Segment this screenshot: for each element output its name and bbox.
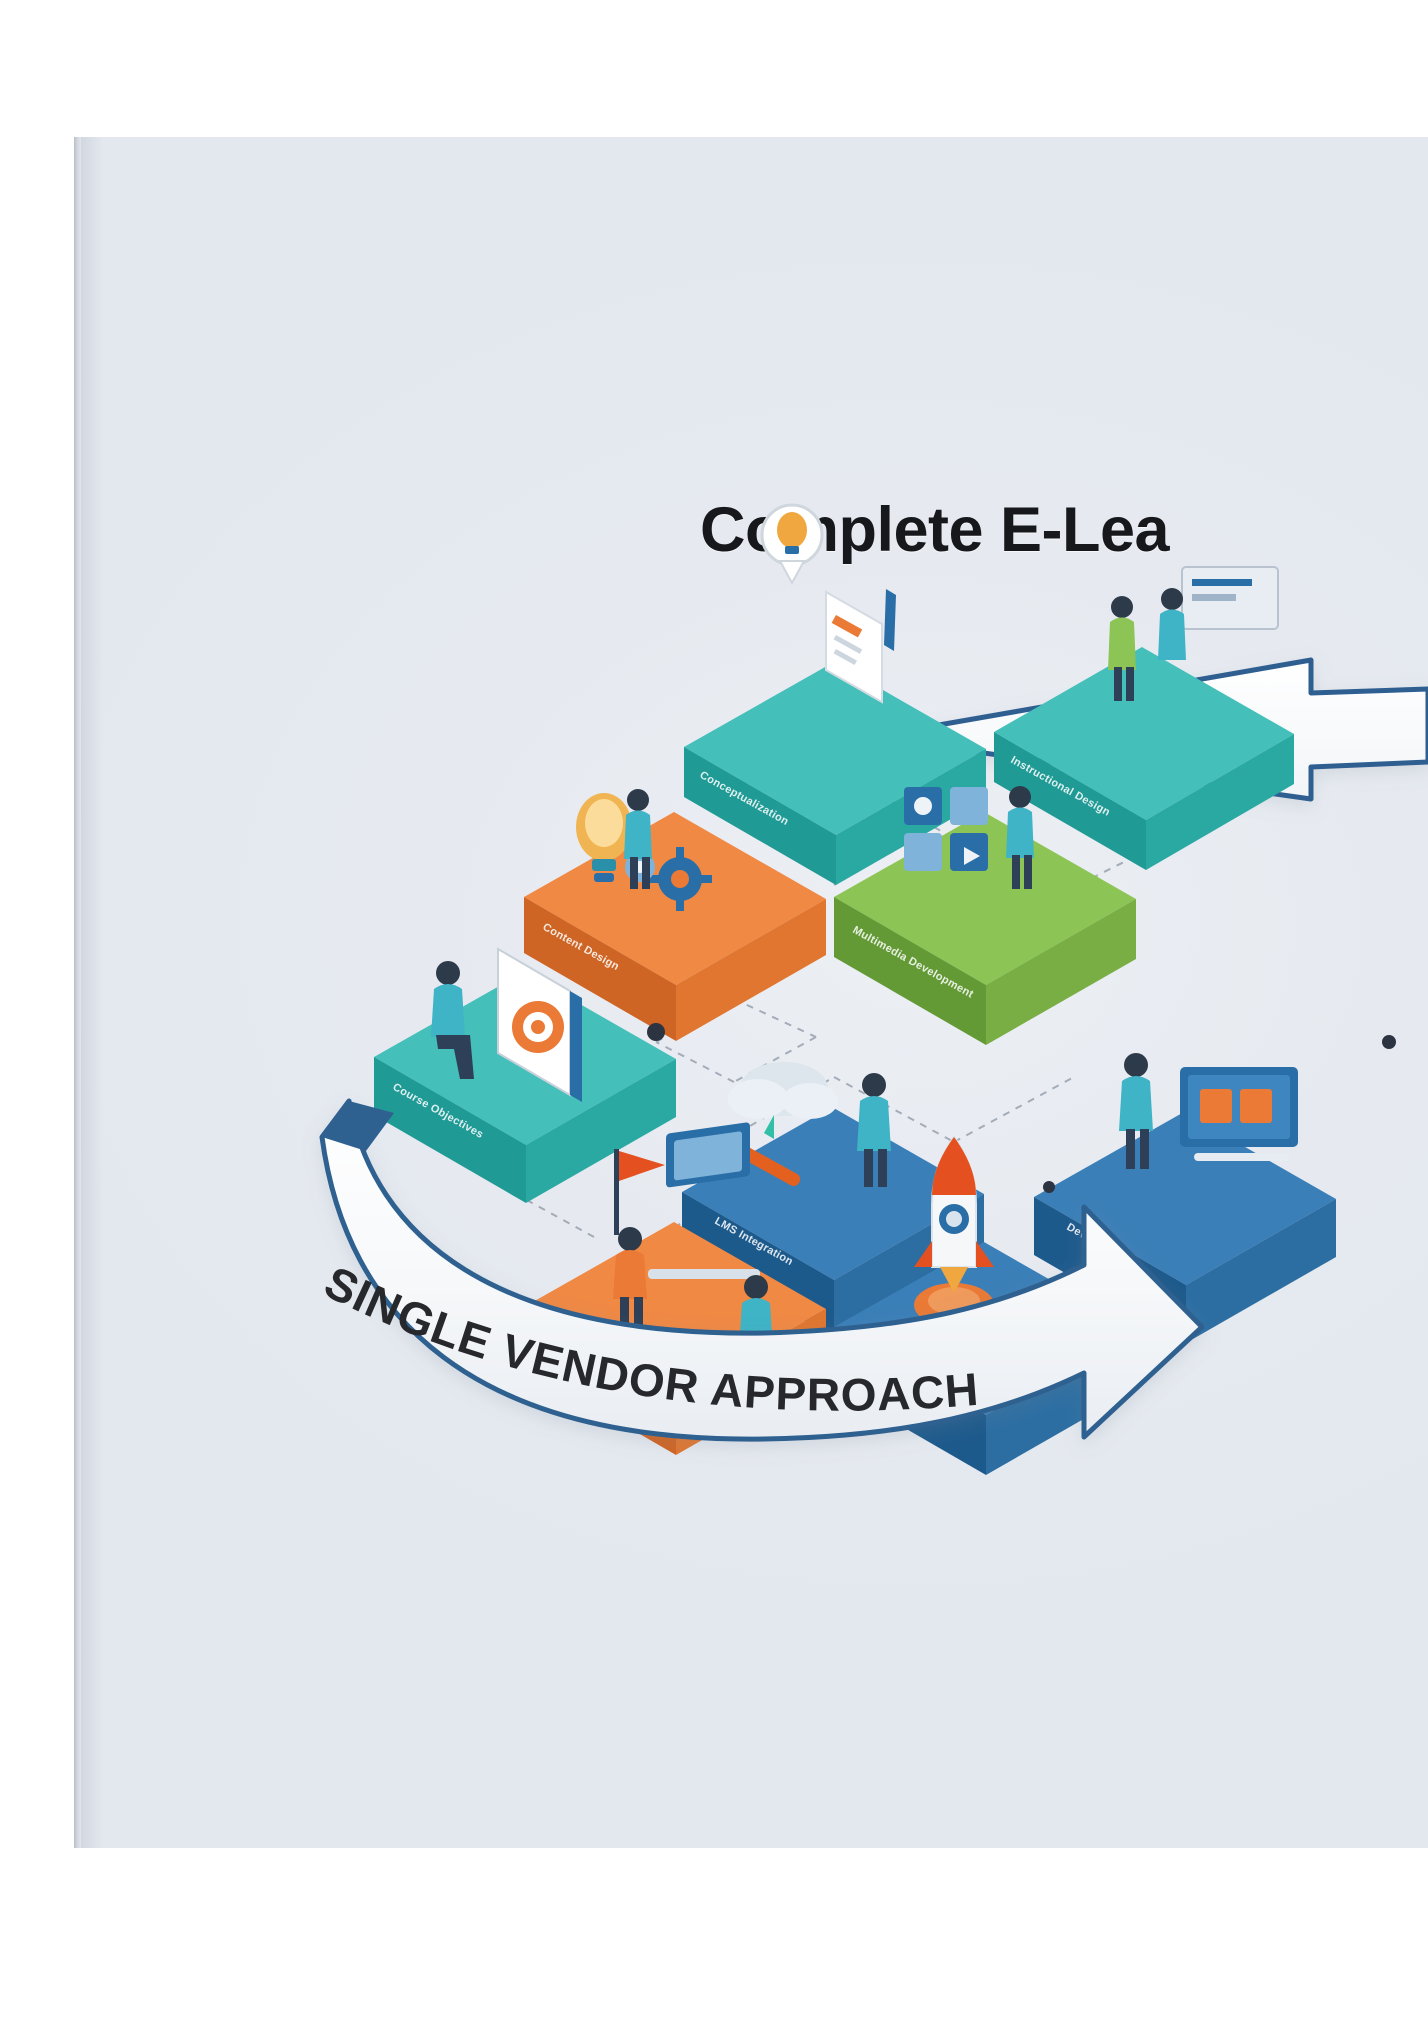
connector-lines <box>494 757 1194 1237</box>
tablet-target-icon <box>431 949 582 1102</box>
tile-instructional-design: Instructional Design <box>994 567 1294 870</box>
slide-canvas: Complete E-Lea <box>74 137 1428 1848</box>
tile-label: Content Design <box>541 921 622 973</box>
page-title: Complete E-Lea <box>700 494 1169 566</box>
media-blocks-icon <box>904 786 1034 889</box>
tile-lms-integration: LMS Integration <box>682 1062 984 1338</box>
connector-node <box>1043 1181 1055 1193</box>
left-pointing-arrow-icon <box>870 660 1428 799</box>
single-vendor-approach-banner: SINGLE VENDOR APPROACH <box>317 1101 1202 1439</box>
tile-deployment: Deployment <box>834 1137 1136 1475</box>
tile-label: Multimedia Development <box>851 924 976 1001</box>
tile-course-objectives: Course Objectives <box>374 949 676 1203</box>
tile-label: LMS Integration <box>713 1215 795 1268</box>
isometric-diagram: Conceptualization <box>74 137 1428 1848</box>
banner-label: SINGLE VENDOR APPROACH <box>317 1256 981 1421</box>
cloud-icon <box>728 1062 891 1188</box>
board-people-icon <box>1108 567 1278 701</box>
document-pencil-icon <box>826 589 896 702</box>
monitor-code-icon <box>1119 1053 1298 1169</box>
connector-node <box>647 1023 665 1041</box>
laptop-flag-people-icon <box>613 1122 773 1387</box>
tile-label: Instructional Design <box>1009 754 1113 819</box>
tile-delivery <box>524 1122 826 1455</box>
tile-label: Deployment <box>865 1351 929 1393</box>
tile-content-design: Content Design <box>524 789 826 1041</box>
tile-development: Development <box>1034 1053 1336 1343</box>
lightbulb-gear-icon <box>576 789 712 911</box>
rocket-icon <box>914 1137 994 1327</box>
tile-label: Conceptualization <box>698 769 791 828</box>
tile-multimedia-development: Multimedia Development <box>834 786 1136 1045</box>
tile-label: Development <box>1065 1221 1134 1267</box>
connector-node <box>1382 1035 1396 1049</box>
tile-label: Course Objectives <box>391 1081 486 1141</box>
